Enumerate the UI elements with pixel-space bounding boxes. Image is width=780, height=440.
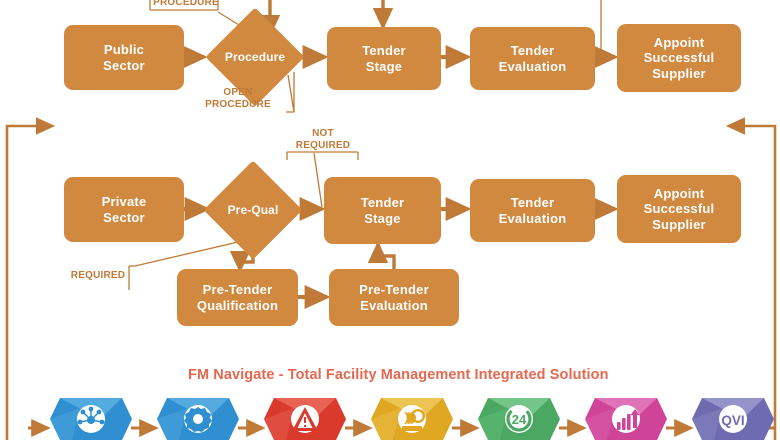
edge-label-line: REQUIRED xyxy=(71,270,125,281)
pill-gear-check[interactable] xyxy=(157,398,239,440)
node-line: Tender xyxy=(362,43,406,58)
node-pre-tender-qualification[interactable]: Pre-Tender Qualification xyxy=(177,269,298,326)
pill-qvi[interactable]: QVI xyxy=(692,398,774,440)
node-line: Stage xyxy=(361,211,405,226)
node-appoint-successful-supplier-private[interactable]: Appoint Successful Supplier xyxy=(617,175,741,243)
node-tender-stage-private[interactable]: Tender Stage xyxy=(324,177,441,244)
node-public-sector[interactable]: Public Sector xyxy=(64,25,184,90)
node-line: Evaluation xyxy=(359,298,429,313)
pill-label: 24 xyxy=(512,412,527,427)
node-line: Tender xyxy=(499,195,567,210)
node-line: Pre-Tender xyxy=(197,282,278,297)
node-line: Pre-Tender xyxy=(359,282,429,297)
node-line: Appoint xyxy=(644,35,715,50)
edge-label-line: PROCEDURE xyxy=(153,0,219,8)
node-line: Qualification xyxy=(197,298,278,313)
node-line: Successful xyxy=(644,201,715,216)
pill-network-nodes[interactable] xyxy=(50,398,132,440)
pill-warning-triangle[interactable] xyxy=(264,398,346,440)
node-tender-stage-public[interactable]: Tender Stage xyxy=(327,27,441,90)
node-line: Tender xyxy=(499,43,567,58)
node-line: Private xyxy=(102,194,147,209)
pill-label: QVI xyxy=(721,413,744,428)
edge-label-restricted-procedure: PROCEDURE xyxy=(141,0,231,9)
node-line: Appoint xyxy=(644,186,715,201)
node-tender-evaluation-private[interactable]: Tender Evaluation xyxy=(470,179,595,242)
footer-title: FM Navigate - Total Facility Management … xyxy=(188,367,609,383)
decision-procedure[interactable]: Procedure xyxy=(220,22,290,92)
node-line: Sector xyxy=(103,58,145,73)
node-line: Supplier xyxy=(644,217,715,232)
node-line: Successful xyxy=(644,50,715,65)
edge-label-line: PROCEDURE xyxy=(205,99,271,110)
decision-pre-qual[interactable]: Pre-Qual xyxy=(218,175,288,245)
edge-label-open-procedure: OPEN PROCEDURE xyxy=(190,87,286,110)
pill-24-hours[interactable]: 24 xyxy=(478,398,560,440)
node-line: Sector xyxy=(102,210,147,225)
node-private-sector[interactable]: Private Sector xyxy=(64,177,184,242)
node-tender-evaluation-public[interactable]: Tender Evaluation xyxy=(470,27,595,90)
flowchart-canvas: Public Sector Procedure Tender Stage Ten… xyxy=(0,0,780,440)
node-pre-tender-evaluation[interactable]: Pre-Tender Evaluation xyxy=(329,269,459,326)
node-line: Supplier xyxy=(644,66,715,81)
pill-coins[interactable] xyxy=(371,398,453,440)
edge-label-line: OPEN xyxy=(223,87,252,98)
node-appoint-successful-supplier-public[interactable]: Appoint Successful Supplier xyxy=(617,24,741,92)
node-line: Evaluation xyxy=(499,211,567,226)
node-line: Tender xyxy=(361,195,405,210)
node-line: Public xyxy=(103,42,145,57)
decision-label: Procedure xyxy=(225,50,285,64)
edge-label-line: REQUIRED xyxy=(296,140,350,151)
node-line: Evaluation xyxy=(499,59,567,74)
edge-label-required: REQUIRED xyxy=(68,270,128,282)
edge-label-line: NOT xyxy=(312,128,334,139)
edge-label-not-required: NOT REQUIRED xyxy=(289,128,357,151)
node-line: Stage xyxy=(362,59,406,74)
pill-bar-chart-growth[interactable] xyxy=(585,398,667,440)
decision-label: Pre-Qual xyxy=(228,203,279,217)
